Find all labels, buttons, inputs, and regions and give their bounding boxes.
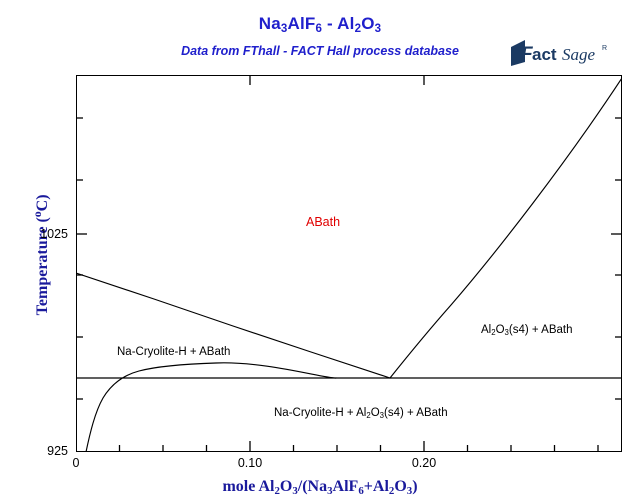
phase-diagram-svg — [76, 75, 622, 452]
svg-text:act: act — [532, 45, 557, 64]
cryolite-liquidus-curve — [76, 273, 390, 378]
region-label-cryolite-abath: Na-Cryolite-H + ABath — [117, 346, 230, 358]
page-title: Na3AlF6 - Al2O3 — [0, 14, 640, 35]
x-tick-0: 0 — [46, 456, 106, 470]
x-axis-label: mole Al2O3/(Na3AlF6+Al2O3) — [0, 478, 640, 497]
y-tick-1025: 1025 — [8, 227, 68, 241]
x-tick-020: 0.20 — [394, 456, 454, 470]
factsage-logo: F act Sage R — [505, 38, 617, 68]
svg-text:R: R — [602, 45, 607, 52]
region-label-abath: ABath — [306, 215, 340, 229]
phase-boundaries — [76, 78, 622, 452]
svg-text:Sage: Sage — [562, 45, 596, 64]
phase-diagram-page: Na3AlF6 - Al2O3 Data from FThall - FACT … — [0, 0, 640, 504]
axis-ticks — [76, 75, 622, 452]
region-label-alumina-abath: Al2O3(s4) + ABath — [481, 324, 573, 337]
x-tick-010: 0.10 — [220, 456, 280, 470]
y-axis-label: Temperature (oC) — [32, 135, 52, 375]
region-label-cryolite-alumina-abath: Na-Cryolite-H + Al2O3(s4) + ABath — [274, 407, 448, 420]
